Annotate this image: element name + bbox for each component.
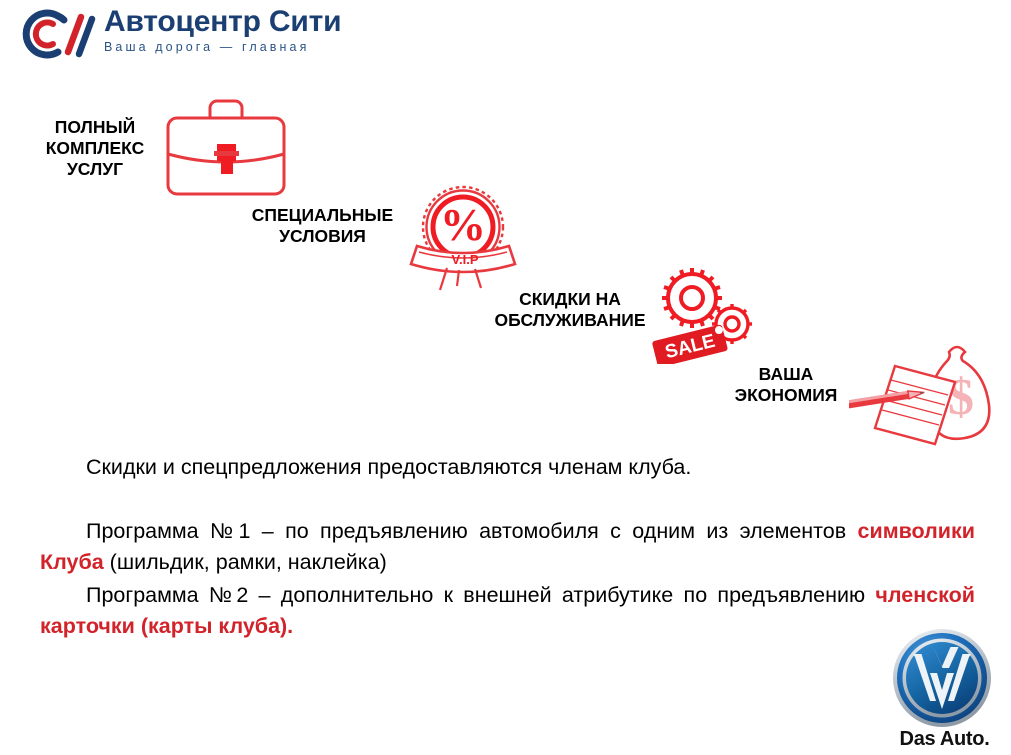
slide-canvas: Автоцентр Сити Ваша дорога — главная ПОЛ… xyxy=(0,0,1011,755)
program-1-paragraph: Программа №1 – по предъявлению автомобил… xyxy=(40,516,975,578)
benefit-step-your-savings: ВАША ЭКОНОМИЯ $ xyxy=(715,338,995,453)
program-1-text-after: (шильдик, рамки, наклейка) xyxy=(104,550,387,574)
svg-text:%: % xyxy=(440,199,486,250)
benefit-label-full-service: ПОЛНЫЙ КОМПЛЕКС УСЛУГ xyxy=(20,117,170,180)
brand-text-block: Автоцентр Сити Ваша дорога — главная xyxy=(104,6,334,55)
volkswagen-slogan: Das Auto. xyxy=(887,728,1002,751)
program-2-paragraph: Программа №2 – дополнительно к внешней а… xyxy=(40,580,975,642)
autocenter-city-monogram-icon xyxy=(12,4,100,64)
benefit-label-your-savings: ВАША ЭКОНОМИЯ xyxy=(715,364,857,406)
svg-text:V.I.P: V.I.P xyxy=(452,252,479,267)
program-1-text-before: Программа №1 – по предъявлению автомобил… xyxy=(86,519,858,543)
brand-logo: Автоцентр Сити Ваша дорога — главная xyxy=(12,4,332,68)
program-2-text-before: Программа №2 – дополнительно к внешней а… xyxy=(86,583,875,607)
body-copy: Скидки и спецпредложения предоставляются… xyxy=(40,452,975,642)
volkswagen-logo-block: Das Auto. xyxy=(887,628,1005,752)
brand-name: Автоцентр Сити xyxy=(104,6,334,38)
volkswagen-logo-icon xyxy=(892,628,992,728)
benefit-label-service-discounts: СКИДКИ НА ОБСЛУЖИВАНИЕ xyxy=(480,289,660,331)
benefit-label-special-conditions: СПЕЦИАЛЬНЫЕ УСЛОВИЯ xyxy=(235,205,410,247)
currency-symbol: $ xyxy=(948,369,974,426)
brand-tagline: Ваша дорога — главная xyxy=(104,39,334,55)
money-bag-note-pencil-icon: $ xyxy=(849,338,995,450)
lead-paragraph: Скидки и спецпредложения предоставляются… xyxy=(40,452,975,483)
